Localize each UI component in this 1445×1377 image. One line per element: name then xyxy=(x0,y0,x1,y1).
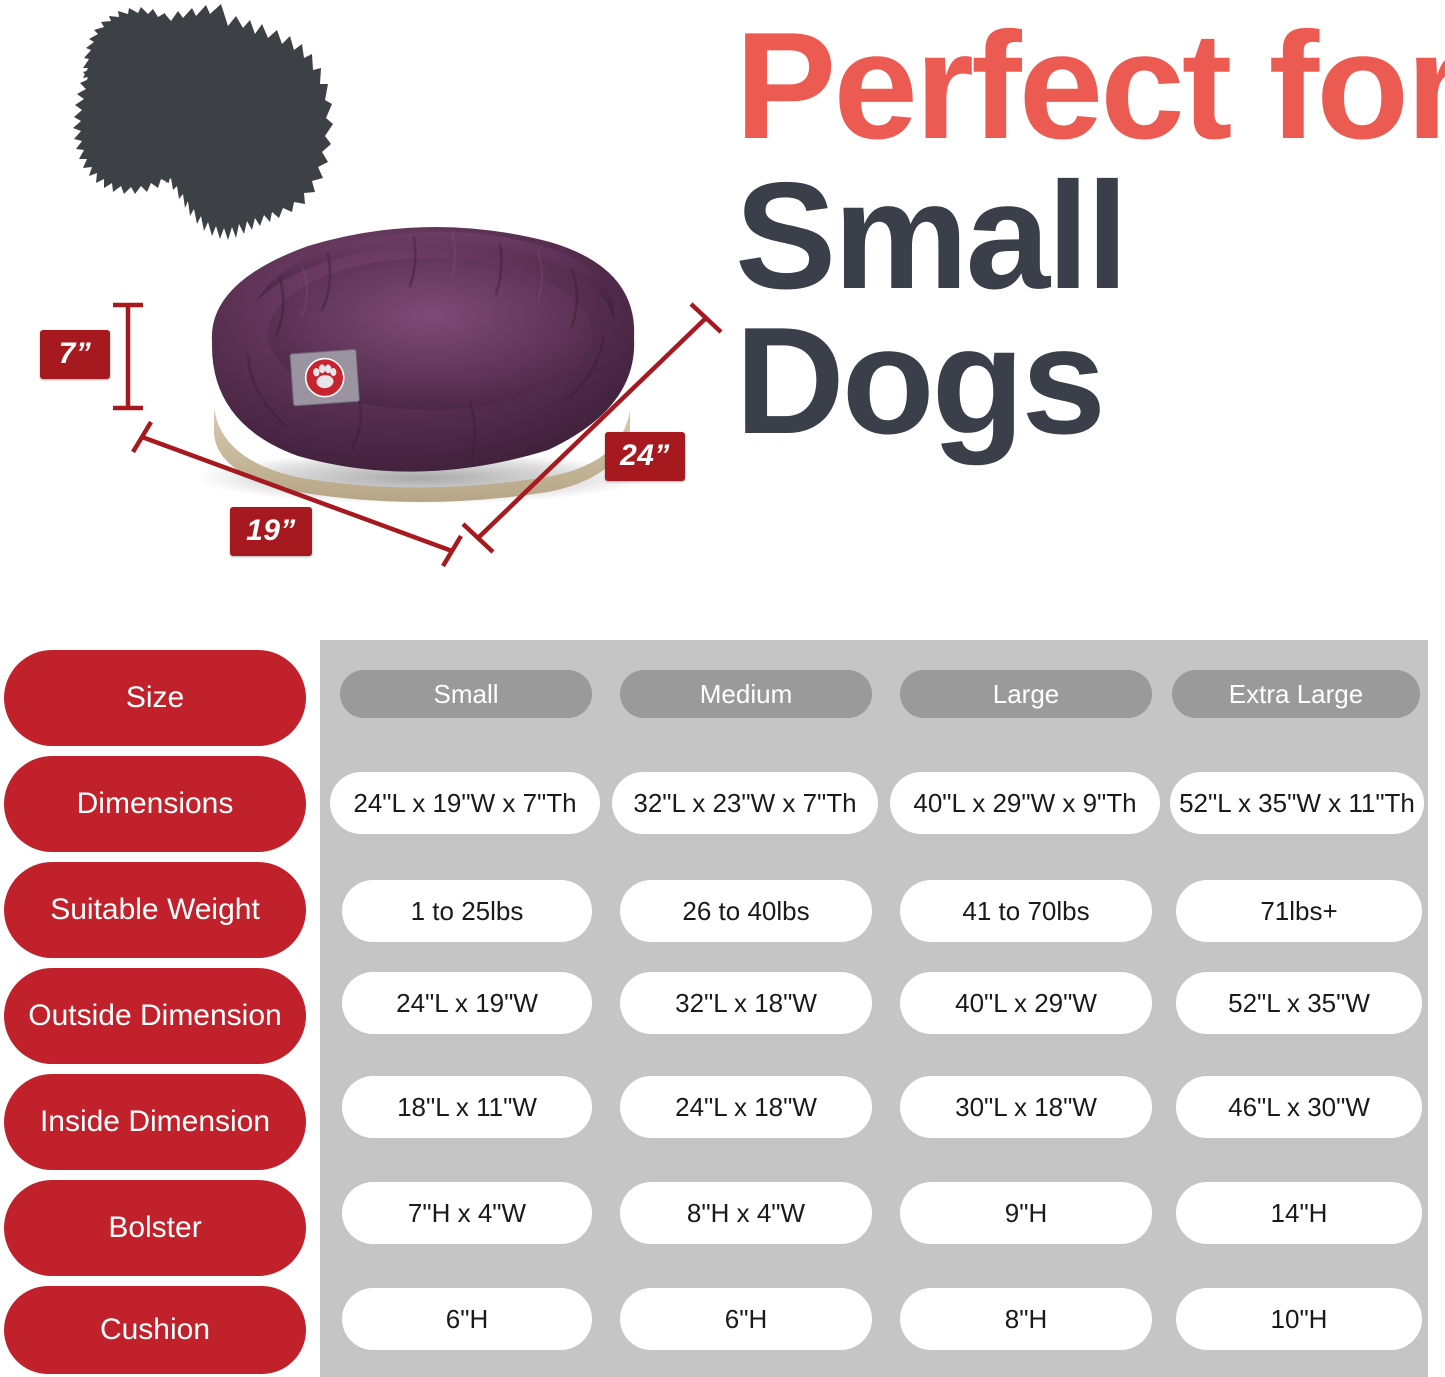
row-label-inside-dimension: Inside Dimension xyxy=(4,1074,306,1170)
cell-inside-small: 18"L x 11"W xyxy=(342,1076,592,1138)
cell-weight-large: 41 to 70lbs xyxy=(900,880,1152,942)
dog-bed-product-image xyxy=(152,186,682,506)
headline-line-small: Small xyxy=(735,164,1435,308)
column-header-medium: Medium xyxy=(620,670,872,718)
headline: Perfect for Small Dogs xyxy=(735,14,1435,453)
row-label-column: Size Dimensions Suitable Weight Outside … xyxy=(0,640,312,1377)
height-callout-badge: 7” xyxy=(40,330,110,379)
headline-line-dogs: Dogs xyxy=(735,309,1435,453)
cell-outside-small: 24"L x 19"W xyxy=(342,972,592,1034)
cell-inside-large: 30"L x 18"W xyxy=(900,1076,1152,1138)
cell-cushion-extra-large: 10"H xyxy=(1176,1288,1422,1350)
cell-weight-medium: 26 to 40lbs xyxy=(620,880,872,942)
row-label-size: Size xyxy=(4,650,306,746)
headline-line-perfect-for: Perfect for xyxy=(735,14,1435,158)
row-label-outside-dimension: Outside Dimension xyxy=(4,968,306,1064)
cell-dimensions-extra-large: 52"L x 35"W x 11"Th xyxy=(1170,772,1424,834)
cell-weight-small: 1 to 25lbs xyxy=(342,880,592,942)
row-label-bolster: Bolster xyxy=(4,1180,306,1276)
cell-inside-medium: 24"L x 18"W xyxy=(620,1076,872,1138)
cell-bolster-medium: 8"H x 4"W xyxy=(620,1182,872,1244)
cell-outside-medium: 32"L x 18"W xyxy=(620,972,872,1034)
row-label-dimensions: Dimensions xyxy=(4,756,306,852)
hero-section: 7” 19” 24” Perfect for Small Dogs xyxy=(0,0,1445,630)
cell-outside-extra-large: 52"L x 35"W xyxy=(1176,972,1422,1034)
cell-inside-extra-large: 46"L x 30"W xyxy=(1176,1076,1422,1138)
cell-bolster-small: 7"H x 4"W xyxy=(342,1182,592,1244)
cell-cushion-large: 8"H xyxy=(900,1288,1152,1350)
column-header-large: Large xyxy=(900,670,1152,718)
cell-outside-large: 40"L x 29"W xyxy=(900,972,1152,1034)
width-callout-badge: 19” xyxy=(230,507,312,556)
cell-bolster-large: 9"H xyxy=(900,1182,1152,1244)
cell-dimensions-medium: 32"L x 23"W x 7"Th xyxy=(612,772,878,834)
cell-cushion-small: 6"H xyxy=(342,1288,592,1350)
row-label-suitable-weight: Suitable Weight xyxy=(4,862,306,958)
cell-weight-extra-large: 71lbs+ xyxy=(1176,880,1422,942)
cell-dimensions-small: 24"L x 19"W x 7"Th xyxy=(330,772,600,834)
column-header-small: Small xyxy=(340,670,592,718)
cell-bolster-extra-large: 14"H xyxy=(1176,1182,1422,1244)
row-label-cushion: Cushion xyxy=(4,1286,306,1374)
column-header-extra-large: Extra Large xyxy=(1172,670,1420,718)
spec-table: Size Dimensions Suitable Weight Outside … xyxy=(0,640,1445,1377)
cell-dimensions-large: 40"L x 29"W x 9"Th xyxy=(890,772,1160,834)
length-callout-badge: 24” xyxy=(605,432,685,481)
cell-cushion-medium: 6"H xyxy=(620,1288,872,1350)
